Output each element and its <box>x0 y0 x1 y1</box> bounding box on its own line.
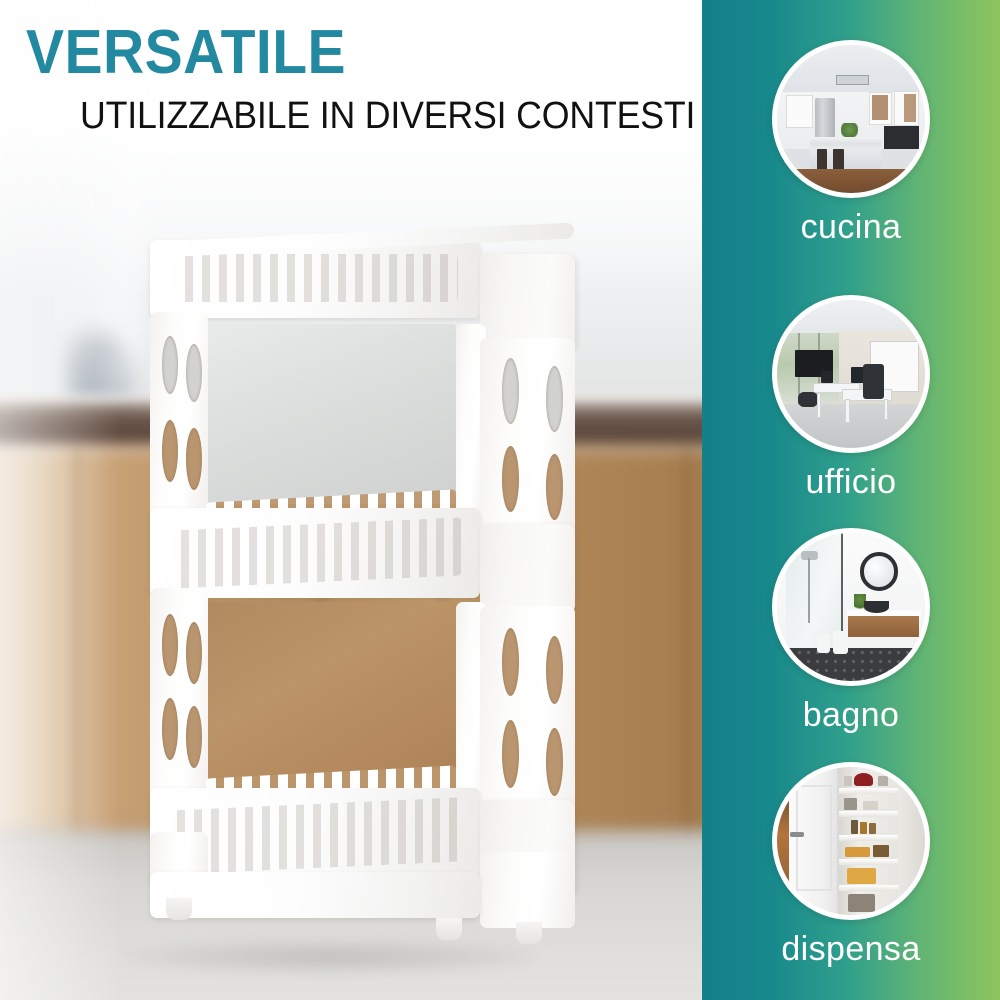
office-photo <box>777 300 925 448</box>
product-storage-cart <box>150 232 590 960</box>
cutout-oval-side-7 <box>502 720 519 788</box>
foot-front-left <box>166 898 192 920</box>
kitchen-photo <box>777 45 925 193</box>
cutout-oval-7 <box>162 698 178 760</box>
cutout-oval-8 <box>186 706 202 768</box>
shelf-bottom-rail-slots <box>168 797 462 874</box>
cutout-oval-side-6 <box>546 636 563 704</box>
cutout-oval-side-1 <box>502 358 519 424</box>
left-white-overlay <box>0 0 120 1000</box>
context-label-dispensa: dispensa <box>702 932 1000 966</box>
post-front-left-upper <box>150 312 208 522</box>
bathroom-photo <box>777 533 925 681</box>
context-thumb-ufficio[interactable] <box>772 295 930 453</box>
cutout-oval-side-4 <box>546 454 563 520</box>
context-item-bagno[interactable]: bagno <box>702 528 1000 732</box>
foot-front-right <box>436 918 462 940</box>
base-side <box>480 852 575 928</box>
infographic-canvas: VERSATILE UTILIZZABILE IN DIVERSI CONTES… <box>0 0 1000 1000</box>
shelf-top-side <box>480 254 575 350</box>
context-thumb-bagno[interactable] <box>772 528 930 686</box>
gap-middle <box>206 602 456 784</box>
context-item-cucina[interactable]: cucina <box>702 40 1000 244</box>
cutout-oval-2 <box>186 344 202 402</box>
context-item-ufficio[interactable]: ufficio <box>702 295 1000 499</box>
context-label-cucina: cucina <box>702 210 1000 244</box>
cutout-oval-6 <box>186 622 202 684</box>
page-subheadline: UTILIZZABILE IN DIVERSI CONTESTI <box>80 97 695 135</box>
context-thumb-dispensa[interactable] <box>772 762 930 920</box>
cutout-oval-3 <box>162 420 178 482</box>
cutout-oval-4 <box>186 428 202 490</box>
cutout-oval-side-2 <box>546 366 563 432</box>
contexts-panel: cucina <box>702 0 1000 1000</box>
cutout-oval-side-8 <box>546 728 563 796</box>
cutout-oval-side-5 <box>502 628 519 696</box>
context-label-bagno: bagno <box>702 698 1000 732</box>
page-headline: VERSATILE <box>26 22 346 84</box>
cutout-oval-side-3 <box>502 446 519 512</box>
foot-rear-right <box>516 922 542 944</box>
context-label-ufficio: ufficio <box>702 465 1000 499</box>
cutout-oval-5 <box>162 614 178 676</box>
post-side-upper <box>480 338 575 548</box>
base-front-skirt <box>150 872 480 918</box>
shelf-top-rail-slots <box>176 254 458 302</box>
gap-top <box>206 324 456 504</box>
product-photo-scene: VERSATILE UTILIZZABILE IN DIVERSI CONTES… <box>0 0 702 1000</box>
pantry-photo <box>777 767 925 915</box>
cutout-oval-1 <box>162 336 178 394</box>
shelf-middle-side <box>480 524 575 614</box>
context-item-dispensa[interactable]: dispensa <box>702 762 1000 966</box>
context-thumb-cucina[interactable] <box>772 40 930 198</box>
